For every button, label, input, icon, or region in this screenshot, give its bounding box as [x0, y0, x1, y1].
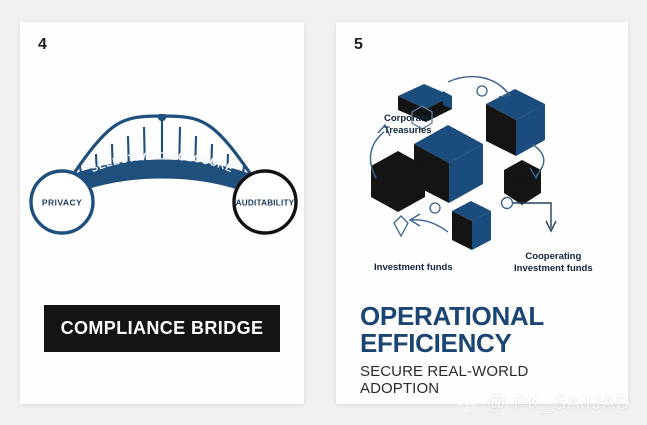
circle-node-top [477, 86, 487, 96]
label-line-1: Corporate [384, 113, 432, 125]
auditability-node-label: AUDITABILITY [236, 199, 295, 208]
slide-card-5[interactable]: 5 [336, 22, 628, 404]
diagram-label-cooperating-investment-funds: Cooperating Investment funds [514, 251, 593, 274]
bridge-illustration: SELECTIVE DISCLOSURE PRIVACY AUDITABILIT… [20, 114, 304, 264]
compliance-bridge-diagram: SELECTIVE DISCLOSURE PRIVACY AUDITABILIT… [20, 114, 304, 264]
compliance-bridge-banner-label: COMPLIANCE BRIDGE [61, 318, 264, 339]
cube-upper-right [486, 89, 545, 156]
operational-efficiency-headline: OPERATIONAL EFFICIENCY SECURE REAL-WORLD… [360, 303, 610, 397]
headline-line-1: OPERATIONAL [360, 303, 610, 330]
privacy-node-label: PRIVACY [42, 198, 82, 208]
arrow-bottom-left [410, 214, 448, 232]
slide-card-4[interactable]: 4 [20, 22, 304, 404]
label-line-1: Investment funds [374, 262, 453, 274]
label-line-1: Cooperating [514, 251, 593, 263]
diagram-label-investment-funds: Investment funds [374, 262, 453, 274]
cube-bottom-center [452, 201, 491, 250]
diagram-label-corporate-treasuries: Corporate Treasuries [384, 113, 432, 136]
arrow-elbow-bottom-right [513, 203, 556, 231]
circle-node-bottom-left [430, 203, 440, 213]
slide-number-5: 5 [354, 36, 363, 54]
slide-number-4: 4 [38, 36, 47, 54]
label-line-2: Treasuries [384, 125, 432, 137]
label-line-2: Investment funds [514, 263, 593, 275]
compliance-bridge-banner[interactable]: COMPLIANCE BRIDGE [44, 305, 280, 352]
headline-line-2: EFFICIENCY [360, 330, 610, 357]
headline-subhead: SECURE REAL-WORLD ADOPTION [360, 363, 610, 397]
diamond-outline-marker [394, 216, 408, 236]
slide-stage: 4 [0, 0, 647, 425]
circle-node-bottom-right [502, 198, 513, 209]
